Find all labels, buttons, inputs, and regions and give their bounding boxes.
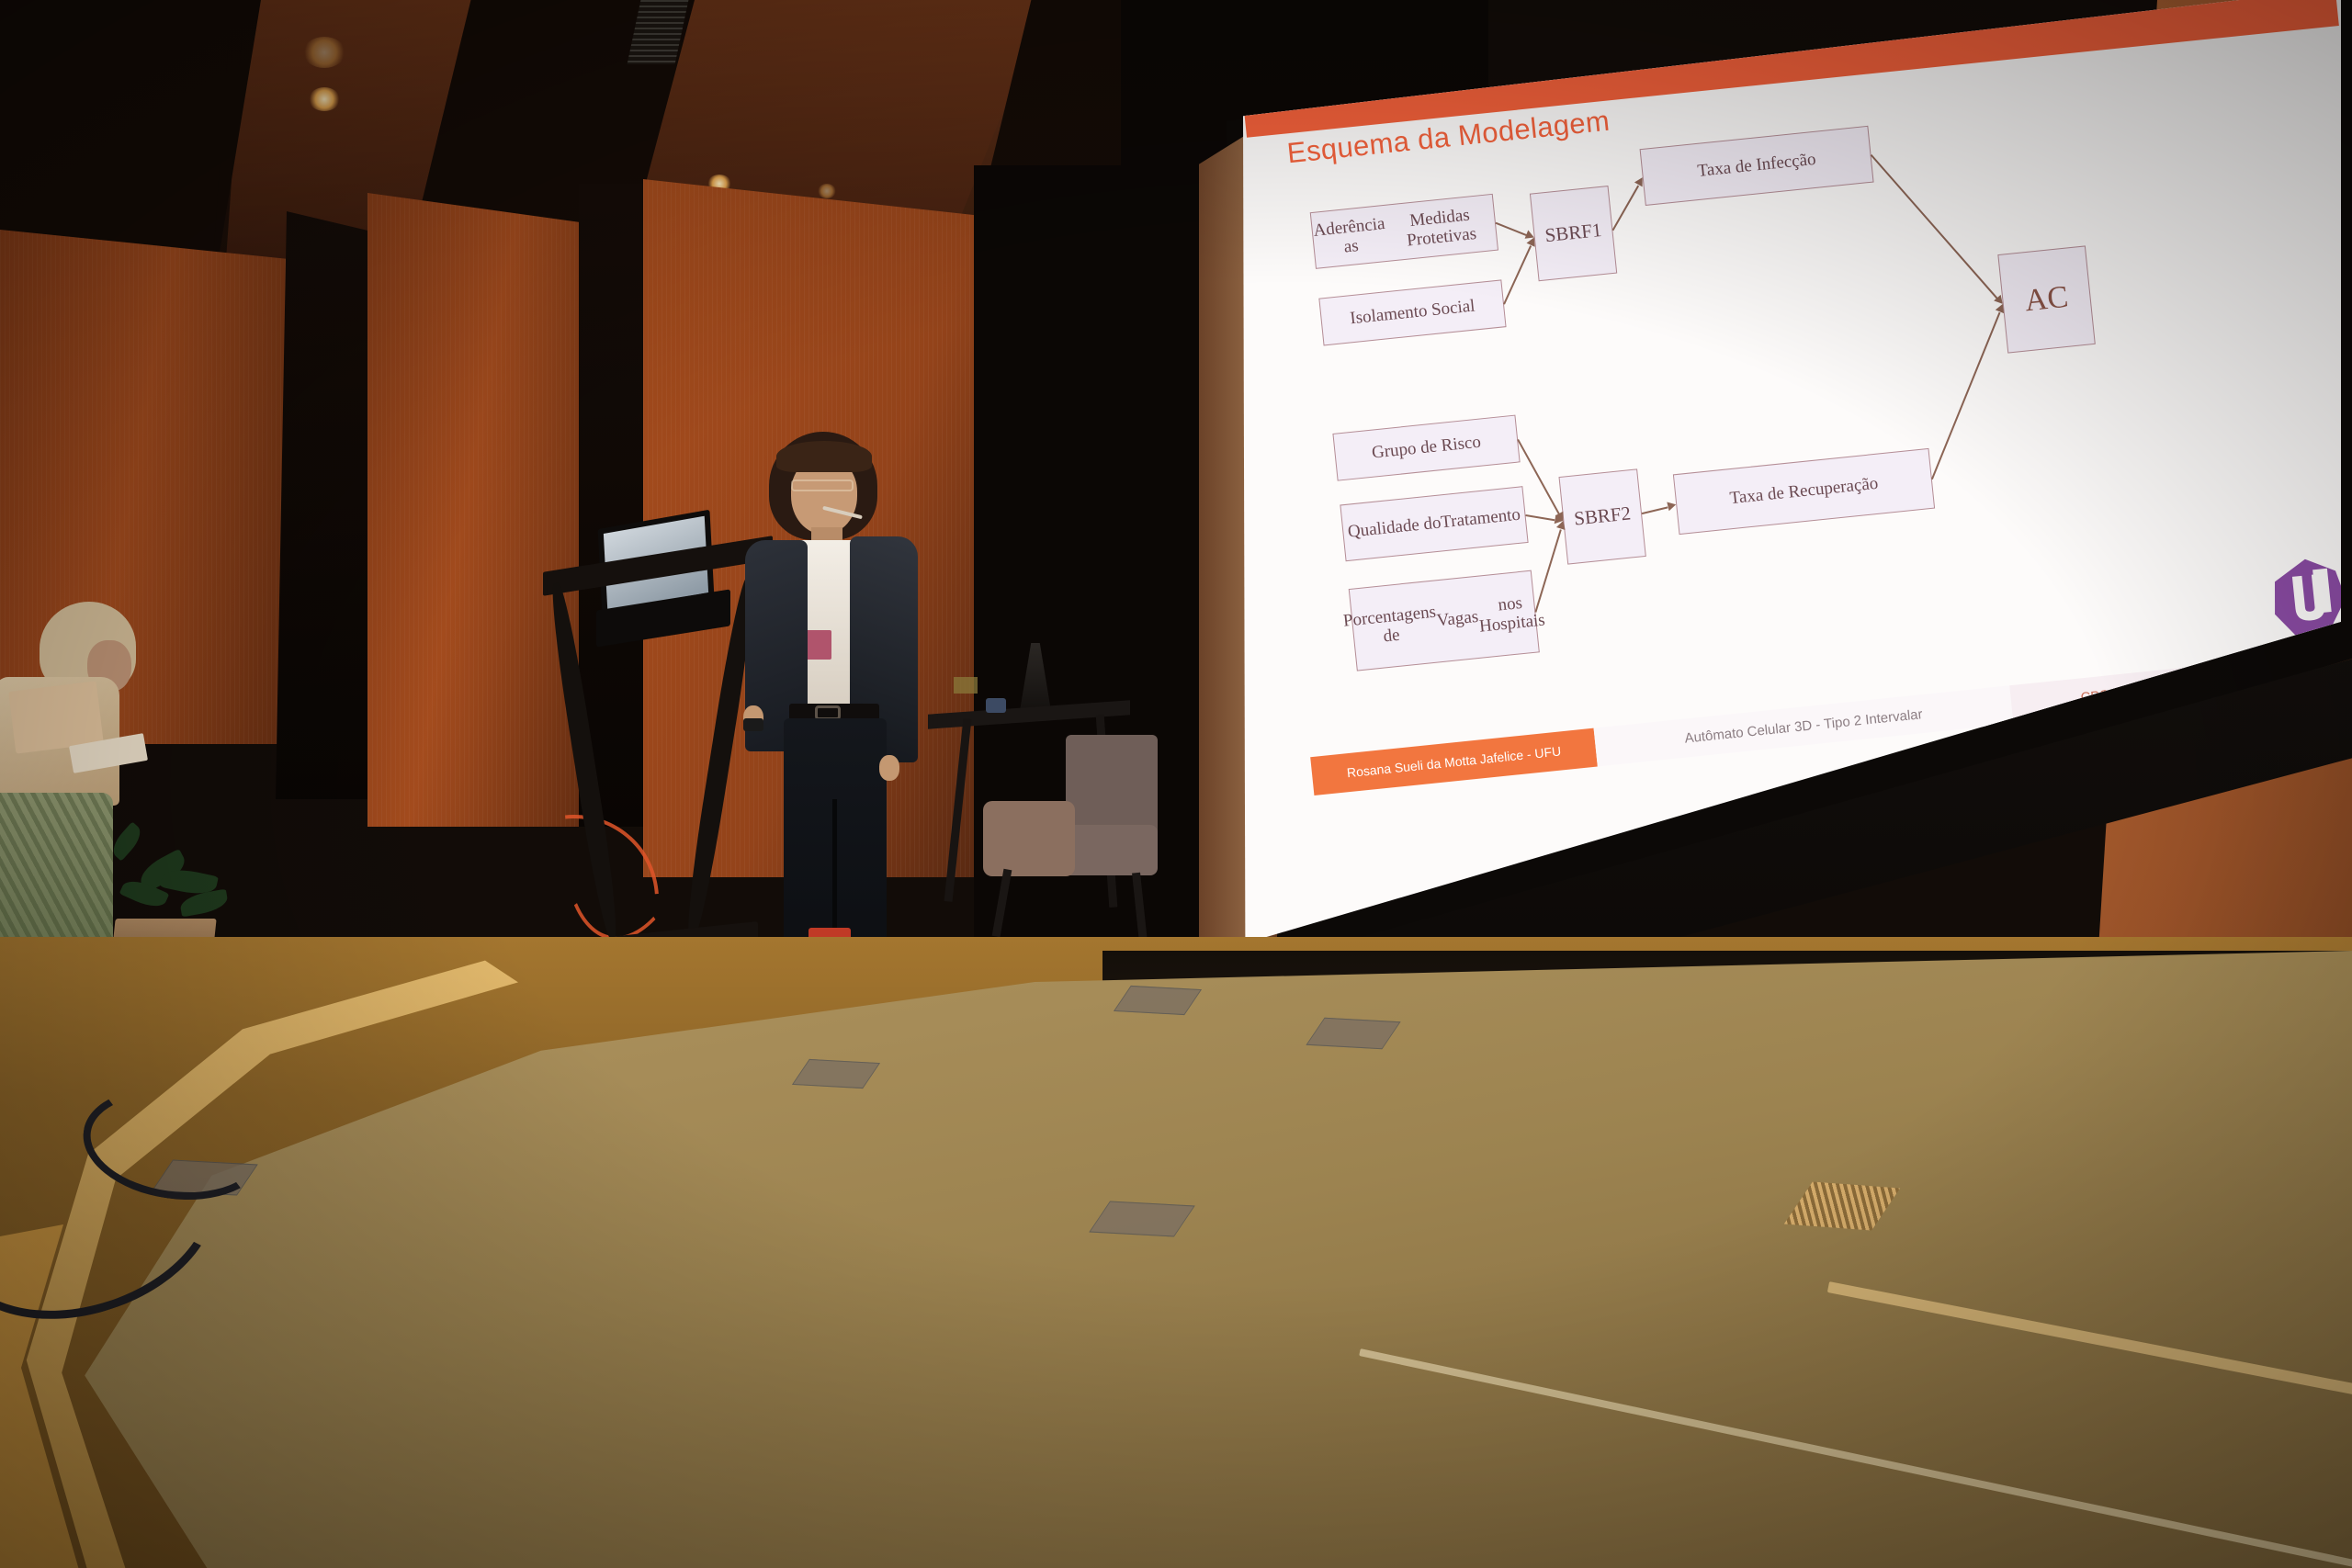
presenter-bangs: [776, 441, 872, 472]
diagram-node-ac: AC: [1997, 245, 2096, 353]
projection-screen: Esquema da Modelagem Aderência asMedidas…: [1227, 0, 2352, 1075]
diagram-edge-taxa-recuperacao-to-ac: [1931, 312, 2001, 479]
diagram-edge-aderencia-to-sbrf1: [1496, 222, 1527, 236]
remote-clicker: [743, 718, 763, 731]
diagram-edge-isolamento-to-sbrf1: [1503, 245, 1532, 304]
downlight-icon: [309, 87, 340, 111]
diagram-arrowhead: [1667, 500, 1677, 511]
diagram-node-sbrf1: SBRF1: [1530, 186, 1617, 281]
diagram-edge-sbrf2-to-taxa-recuperacao: [1642, 506, 1668, 514]
auditorium-scene: Esquema da Modelagem Aderência asMedidas…: [0, 0, 2352, 1568]
armchair-leg: [992, 869, 1012, 937]
armchair-leg: [1132, 873, 1148, 943]
diagram-node-taxa-recuperacao: Taxa de Recuperação: [1673, 448, 1935, 535]
downlight-icon: [818, 184, 836, 198]
presenter: [712, 432, 942, 1001]
diagram-node-sbrf2: SBRF2: [1558, 468, 1645, 564]
diagram-node-aderencia: Aderência asMedidas Protetivas: [1310, 194, 1498, 269]
wall-sign: [954, 677, 978, 694]
armchair: [974, 735, 1158, 946]
diagram-node-porcentagens: Porcentagens deVagasnos Hospitais: [1349, 570, 1540, 671]
diagram-node-taxa-infeccao: Taxa de Infecção: [1640, 126, 1874, 206]
armchair-arm: [983, 801, 1075, 876]
slide-accent-bar: [1243, 0, 2339, 138]
diagram-edge-qualidade-to-sbrf2: [1525, 514, 1555, 521]
cup-on-table: [986, 698, 1006, 713]
glasses-icon: [791, 479, 854, 491]
slide-footer-author: Rosana Sueli da Motta Jafelice - UFU: [1310, 728, 1598, 795]
diagram-edge-taxa-infeccao-to-ac: [1871, 154, 1998, 299]
downlight-icon: [303, 37, 345, 68]
diagram-edge-sbrf1-to-taxa-infeccao: [1612, 185, 1640, 231]
diagram-edge-porcentagens-to-sbrf2: [1534, 529, 1561, 613]
diagram-node-isolamento: Isolamento Social: [1318, 279, 1506, 345]
diagram-node-qualidade: Qualidade doTratamento: [1340, 486, 1528, 561]
presenter-right-hand: [879, 755, 899, 781]
diagram-node-grupo-risco: Grupo de Risco: [1332, 415, 1520, 481]
